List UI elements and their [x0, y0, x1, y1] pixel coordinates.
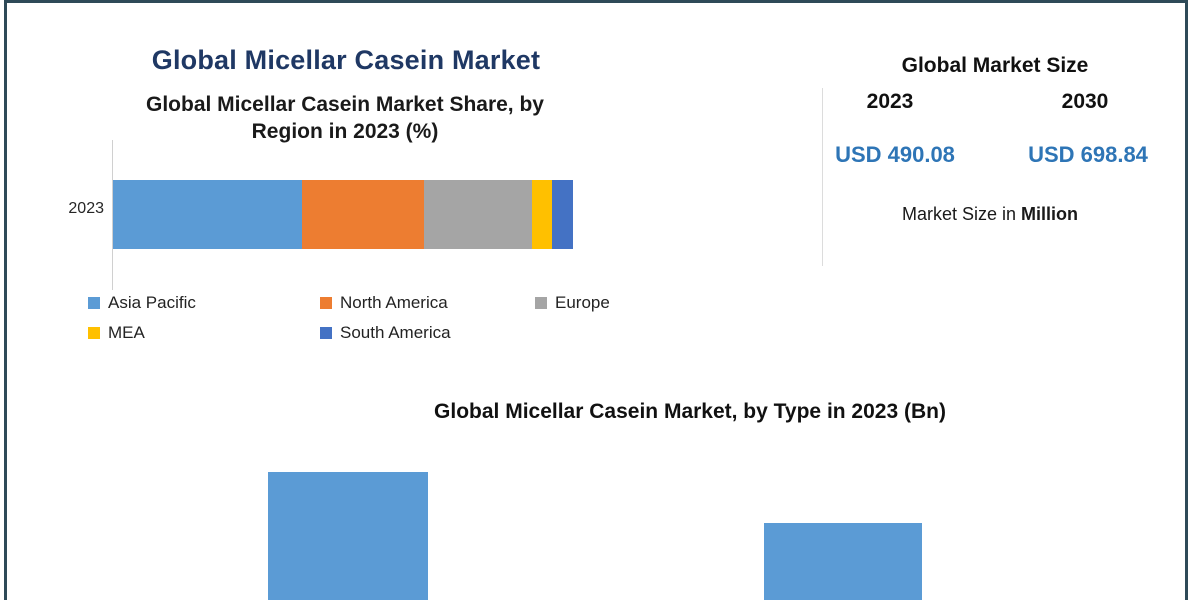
share-chart-title: Global Micellar Casein Market Share, by … [110, 92, 580, 146]
legend-label: Asia Pacific [108, 293, 196, 313]
market-size-heading: Global Market Size [830, 54, 1160, 78]
legend-label: North America [340, 293, 448, 313]
legend-item-asia-pacific[interactable]: Asia Pacific [88, 293, 320, 313]
stacked-bar-segment-mea [532, 180, 552, 249]
market-size-year-base: 2023 [815, 90, 965, 114]
stacked-bar-segment-asia-pacific [113, 180, 302, 249]
market-size-unit-value: Million [1021, 204, 1078, 224]
legend-item-europe[interactable]: Europe [535, 293, 610, 313]
stacked-bar-segment-europe [424, 180, 532, 249]
infographic-page: Global Micellar Casein Market Global Mic… [0, 0, 1200, 600]
legend-row: MEASouth America [88, 318, 618, 348]
market-size-unit-prefix: Market Size in [902, 204, 1021, 224]
stacked-bar-2023 [113, 180, 573, 249]
legend-item-mea[interactable]: MEA [88, 323, 320, 343]
market-size-value-forecast: USD 698.84 [988, 142, 1188, 168]
share-chart-legend: Asia PacificNorth AmericaEuropeMEASouth … [88, 288, 618, 348]
type-chart-bar-1 [268, 472, 428, 600]
legend-label: South America [340, 323, 451, 343]
stacked-bar-segment-south-america [552, 180, 573, 249]
market-size-value-base: USD 490.08 [795, 142, 995, 168]
type-chart-bar-2 [764, 523, 922, 600]
legend-swatch-icon [88, 327, 100, 339]
market-size-unit: Market Size in Million [820, 204, 1160, 225]
legend-item-south-america[interactable]: South America [320, 323, 451, 343]
panel-divider [822, 88, 823, 266]
frame-left-border [4, 0, 7, 600]
legend-swatch-icon [88, 297, 100, 309]
legend-swatch-icon [320, 327, 332, 339]
stacked-bar-segment-north-america [302, 180, 425, 249]
market-size-year-forecast: 2030 [1010, 90, 1160, 114]
legend-swatch-icon [320, 297, 332, 309]
legend-row: Asia PacificNorth AmericaEurope [88, 288, 618, 318]
frame-right-border [1185, 0, 1188, 600]
legend-label: MEA [108, 323, 145, 343]
type-chart-title: Global Micellar Casein Market, by Type i… [200, 400, 1180, 424]
frame-top-border [4, 0, 1188, 3]
legend-swatch-icon [535, 297, 547, 309]
share-chart-category-label: 2023 [40, 200, 104, 218]
page-title: Global Micellar Casein Market [112, 45, 580, 76]
legend-label: Europe [555, 293, 610, 313]
legend-item-north-america[interactable]: North America [320, 293, 535, 313]
